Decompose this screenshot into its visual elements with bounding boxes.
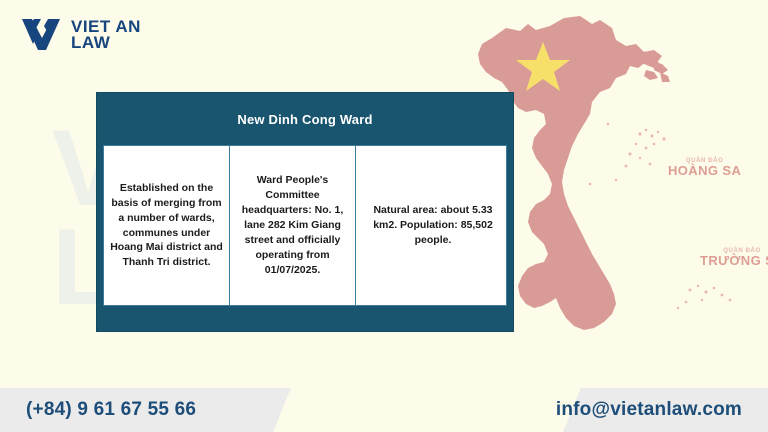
card-title: New Dinh Cong Ward <box>97 93 513 145</box>
footer-phone[interactable]: (+84) 9 61 67 55 66 <box>26 388 196 432</box>
island-label-hoangsa: QUẦN ĐẢO HOÀNG SA <box>668 158 741 178</box>
footer-email[interactable]: info@vietanlaw.com <box>556 388 742 432</box>
card-cell-establishment: Established on the basis of merging from… <box>104 146 230 305</box>
truongsa-archipelago-dots <box>677 285 732 309</box>
brand-logo: VIET ANLAW <box>22 16 141 54</box>
hoangsa-archipelago-dots <box>589 123 666 186</box>
brand-name: VIET ANLAW <box>71 19 141 51</box>
card-cell-headquarters: Ward People's Committee headquarters: No… <box>230 146 356 305</box>
island-label-hoangsa-name: HOÀNG SA <box>668 164 741 178</box>
card-cell-area-population: Natural area: about 5.33 km2. Population… <box>356 146 510 305</box>
footer-bar: (+84) 9 61 67 55 66 info@vietanlaw.com <box>0 388 768 432</box>
footer-diagonal-accent <box>271 388 582 432</box>
vietan-monogram-icon <box>22 16 62 54</box>
brand-name-line2: LAW <box>71 33 110 52</box>
info-card: New Dinh Cong Ward Established on the ba… <box>96 92 514 332</box>
island-label-truongsa: QUẦN ĐẢO TRƯỜNG SA <box>700 248 768 268</box>
island-label-truongsa-name: TRƯỜNG SA <box>700 254 768 268</box>
card-columns: Established on the basis of merging from… <box>103 145 507 306</box>
